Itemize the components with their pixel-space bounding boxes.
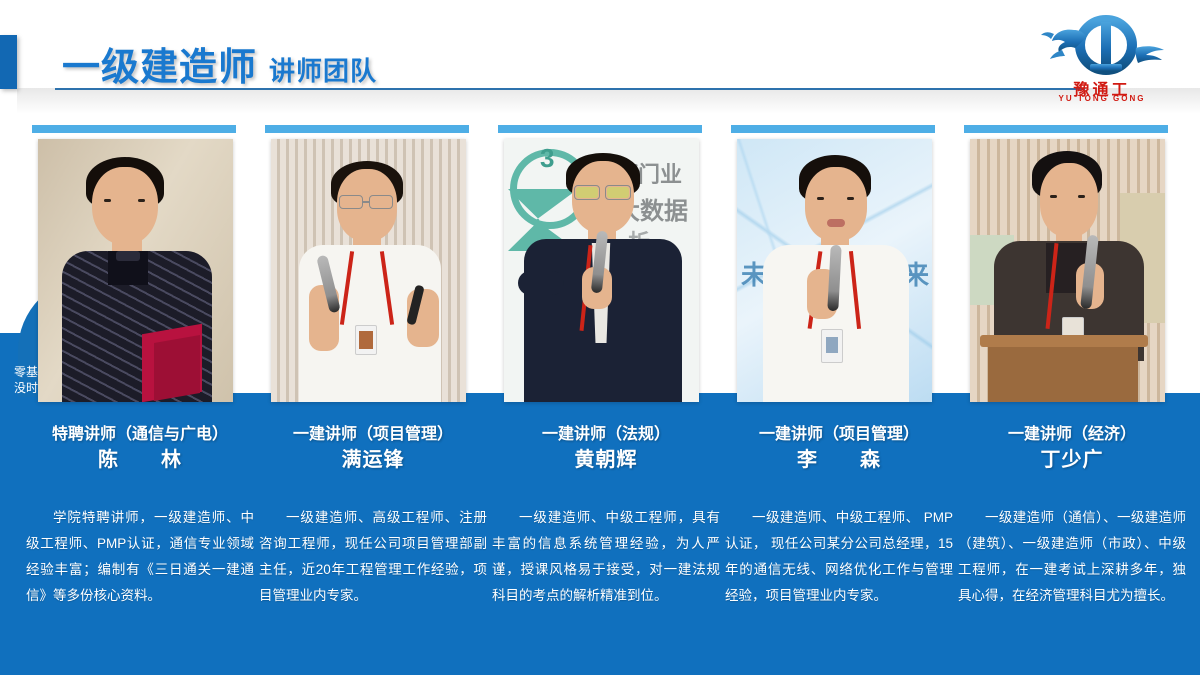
instructor-card[interactable]: 未 来 一建讲师（项目管理） 李 森 一级建造师、中级工程师、 — [731, 120, 947, 675]
instructor-description: 一级建造师（通信）、一级建造师（建筑）、一级建造师（市政）、中级工程师，在一建考… — [958, 505, 1186, 609]
instructor-photo: 3 郑门业 大数据 析 — [504, 139, 699, 402]
instructor-description: 一级建造师、高级工程师、注册咨询工程师，现任公司项目管理部副主任，近20年工程管… — [259, 505, 487, 609]
instructor-name-block: 一建讲师（项目管理） 满运锋 — [247, 423, 499, 474]
page-title: 一级建造师 讲师团队 — [62, 36, 377, 91]
instructor-photo — [271, 139, 466, 402]
instructor-role: 一建讲师（项目管理） — [247, 423, 499, 447]
instructor-name-block: 一建讲师（法规） 黄朝辉 — [480, 423, 732, 474]
instructor-card[interactable]: 3 郑门业 大数据 析 一建讲师（法规） — [498, 120, 714, 675]
company-logo: 豫通工 YU TONG GONG — [1032, 14, 1172, 104]
slide-header: 一级建造师 讲师团队 — [0, 0, 1200, 120]
card-top-bar — [265, 125, 469, 133]
slide-root: 一级建造师 讲师团队 — [0, 0, 1200, 675]
instructor-card-list: 特聘讲师（通信与广电） 陈 林 学院特聘讲师，一级建造师、中级工程师、PMP认证… — [0, 120, 1200, 675]
instructor-photo — [38, 139, 233, 402]
instructor-role: 一建讲师（经济） — [946, 423, 1198, 447]
header-shadow — [17, 88, 1200, 114]
instructor-role: 特聘讲师（通信与广电） — [14, 423, 266, 447]
header-accent-bar — [0, 35, 17, 89]
card-top-bar — [731, 125, 935, 133]
instructor-photo: 未 来 — [737, 139, 932, 402]
card-top-bar — [964, 125, 1168, 133]
instructor-name: 丁少广 — [946, 447, 1198, 474]
instructor-name: 李 森 — [713, 447, 965, 474]
instructor-card[interactable]: 一建讲师（项目管理） 满运锋 一级建造师、高级工程师、注册咨询工程师，现任公司项… — [265, 120, 481, 675]
instructor-description: 一级建造师、中级工程师、 PMP认证， 现任公司某分公司总经理，15年的通信无线… — [725, 505, 953, 609]
card-top-bar — [498, 125, 702, 133]
logo-name-en: YU TONG GONG — [1032, 94, 1172, 103]
instructor-card[interactable]: 一建讲师（经济） 丁少广 一级建造师（通信）、一级建造师（建筑）、一级建造师（市… — [964, 120, 1180, 675]
instructor-name: 满运锋 — [247, 447, 499, 474]
instructor-card[interactable]: 特聘讲师（通信与广电） 陈 林 学院特聘讲师，一级建造师、中级工程师、PMP认证… — [32, 120, 248, 675]
instructor-name: 陈 林 — [14, 447, 266, 474]
instructor-description: 学院特聘讲师，一级建造师、中级工程师、PMP认证，通信专业领域经验丰富；编制有《… — [26, 505, 254, 609]
page-title-main: 一级建造师 — [62, 36, 257, 91]
instructor-photo — [970, 139, 1165, 402]
instructor-name: 黄朝辉 — [480, 447, 732, 474]
page-title-sub: 讲师团队 — [269, 51, 377, 88]
card-top-bar — [32, 125, 236, 133]
instructor-description: 一级建造师、中级工程师，具有丰富的信息系统管理经验，为人严谨，授课风格易于接受，… — [492, 505, 720, 609]
instructor-role: 一建讲师（法规） — [480, 423, 732, 447]
instructor-name-block: 一建讲师（经济） 丁少广 — [946, 423, 1198, 474]
instructor-role: 一建讲师（项目管理） — [713, 423, 965, 447]
instructor-name-block: 一建讲师（项目管理） 李 森 — [713, 423, 965, 474]
instructor-name-block: 特聘讲师（通信与广电） 陈 林 — [14, 423, 266, 474]
dragon-logo-icon — [1032, 14, 1172, 76]
